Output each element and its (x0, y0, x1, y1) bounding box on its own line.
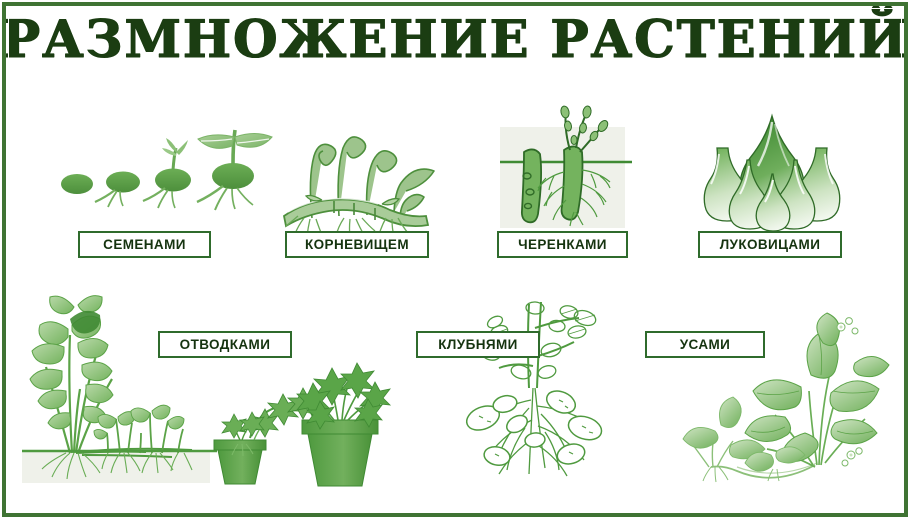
illustration-bulbs (697, 108, 847, 226)
illustration-cuttings (496, 100, 636, 228)
label-rhizome: КОРНЕВИЩЕМ (285, 231, 429, 258)
label-cuttings: ЧЕРЕНКАМИ (497, 231, 628, 258)
label-bulbs-text: ЛУКОВИЦАМИ (720, 237, 821, 252)
label-tubers-text: КЛУБНЯМИ (438, 337, 517, 352)
label-runners: УСАМИ (645, 331, 765, 358)
label-rhizome-text: КОРНЕВИЩЕМ (305, 237, 409, 252)
label-seeds-text: СЕМЕНАМИ (103, 237, 186, 252)
label-bulbs: ЛУКОВИЦАМИ (698, 231, 842, 258)
illustration-layering-pots (198, 352, 393, 492)
plant-propagation-poster: РАЗМНОЖЕНИЕ РАСТЕНИЙ (0, 0, 910, 519)
illustration-seeds-germination (55, 112, 270, 222)
illustration-layering-shrub (12, 285, 222, 485)
illustration-tubers (425, 288, 640, 493)
label-layering: ОТВОДКАМИ (158, 331, 292, 358)
label-runners-text: УСАМИ (680, 337, 731, 352)
page-title: РАЗМНОЖЕНИЕ РАСТЕНИЙ (0, 13, 910, 67)
label-tubers: КЛУБНЯМИ (416, 331, 540, 358)
illustration-rhizome (282, 100, 442, 225)
label-layering-text: ОТВОДКАМИ (180, 337, 271, 352)
label-cuttings-text: ЧЕРЕНКАМИ (518, 237, 607, 252)
label-seeds: СЕМЕНАМИ (78, 231, 211, 258)
